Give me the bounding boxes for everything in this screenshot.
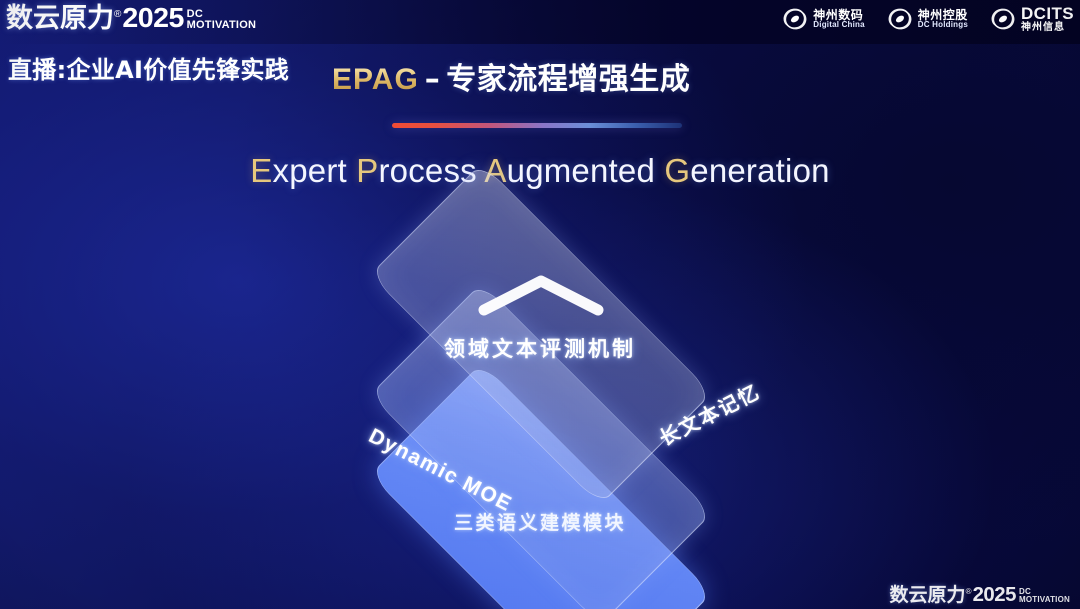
- partner-label-dcits: DCITS 神州信息: [1021, 5, 1074, 33]
- spiral-swoosh-icon: [990, 6, 1016, 32]
- layered-architecture-diagram: 领域文本评测机制 Dynamic MOE 长文本记忆 三类语义建模模块: [280, 228, 800, 563]
- subtitle-seg-7: eneration: [690, 152, 829, 189]
- brand-logo: 数云原力 ® 2025 DC MOTIVATION: [6, 4, 256, 32]
- registered-mark-icon: ®: [966, 587, 972, 596]
- partner-logo-group: 神州数码 Digital China 神州控股 DC Holdings: [782, 5, 1074, 33]
- watermark-dc-motivation: DC MOTIVATION: [1019, 588, 1070, 604]
- live-stream-title: 直播:企业AI价值先锋实践: [8, 50, 289, 85]
- subtitle-seg-1: xpert: [273, 152, 357, 189]
- partner-name-en: Digital China: [813, 21, 865, 29]
- partner-logo-digital-china: 神州数码 Digital China: [782, 6, 865, 32]
- slide-subtitle: Expert Process Augmented Generation: [0, 152, 1080, 190]
- partner-name-cn: 神州信息: [1021, 23, 1074, 34]
- partner-label-dc-holdings: 神州控股 DC Holdings: [918, 9, 968, 30]
- spiral-swoosh-icon: [887, 6, 913, 32]
- brand-watermark: 数云原力 ® 2025 DC MOTIVATION: [890, 585, 1070, 605]
- slide-title: EPAG–专家流程增强生成: [332, 54, 690, 98]
- subtitle-seg-6: G: [664, 152, 690, 189]
- brand-dc-motivation: DC MOTIVATION: [187, 9, 256, 31]
- diagram-layer-bottom-label: 三类语义建模模块: [280, 508, 800, 535]
- diagram-layer-top-label: 领域文本评测机制: [280, 333, 800, 363]
- slide-title-dash: –: [419, 62, 447, 97]
- subtitle-seg-5: ugmented: [507, 152, 665, 189]
- registered-mark-icon: ®: [114, 9, 121, 20]
- chevron-up-icon: [476, 272, 606, 318]
- partner-logo-dcits: DCITS 神州信息: [990, 5, 1074, 33]
- gradient-divider: [392, 123, 682, 128]
- watermark-dc-line2: MOTIVATION: [1019, 596, 1070, 604]
- watermark-name-cn: 数云原力: [890, 586, 966, 605]
- watermark-year: 2025: [973, 585, 1016, 605]
- presentation-slide: 数云原力 ® 2025 DC MOTIVATION 直播:企业AI价值先锋实践 …: [0, 0, 1080, 609]
- slide-title-acronym: EPAG: [332, 63, 419, 96]
- spiral-swoosh-icon: [782, 6, 808, 32]
- partner-label-digital-china: 神州数码 Digital China: [813, 9, 865, 30]
- partner-logo-dc-holdings: 神州控股 DC Holdings: [887, 6, 968, 32]
- slide-title-chinese: 专家流程增强生成: [446, 62, 690, 97]
- subtitle-seg-0: E: [250, 152, 272, 189]
- subtitle-seg-2: P: [356, 152, 378, 189]
- partner-name-en: DC Holdings: [918, 21, 968, 29]
- partner-name-en: DCITS: [1021, 5, 1074, 23]
- brand-dc-line2: MOTIVATION: [187, 20, 256, 31]
- brand-name-cn: 数云原力: [6, 5, 114, 32]
- brand-year: 2025: [123, 4, 185, 32]
